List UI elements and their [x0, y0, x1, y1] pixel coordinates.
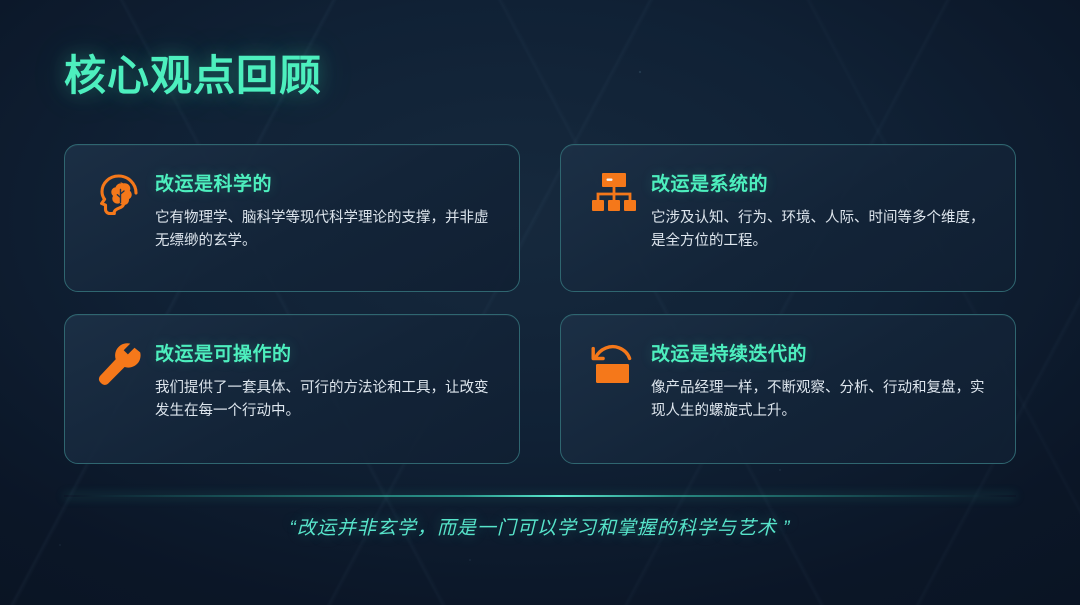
card-science[interactable]: 改运是科学的 它有物理学、脑科学等现代科学理论的支撑，并非虚无缥缈的玄学。 — [64, 144, 520, 292]
iterate-arrow-icon — [583, 339, 645, 397]
card-description: 像产品经理一样，不断观察、分析、行动和复盘，实现人生的螺旋式上升。 — [651, 377, 993, 424]
card-body: 改运是科学的 它有物理学、脑科学等现代科学理论的支撑，并非虚无缥缈的玄学。 — [149, 169, 497, 291]
card-title: 改运是持续迭代的 — [651, 339, 993, 366]
card-description: 我们提供了一套具体、可行的方法论和工具，让改变发生在每一个行动中。 — [155, 377, 497, 424]
card-description: 它有物理学、脑科学等现代科学理论的支撑，并非虚无缥缈的玄学。 — [155, 207, 497, 254]
cards-row-1: 改运是科学的 它有物理学、脑科学等现代科学理论的支撑，并非虚无缥缈的玄学。 — [64, 144, 1016, 292]
card-body: 改运是持续迭代的 像产品经理一样，不断观察、分析、行动和复盘，实现人生的螺旋式上… — [645, 339, 993, 463]
card-system[interactable]: 改运是系统的 它涉及认知、行为、环境、人际、时间等多个维度，是全方位的工程。 — [560, 144, 1016, 292]
footer-quote: “改运并非玄学，而是一门可以学习和掌握的科学与艺术 ” — [0, 513, 1080, 540]
slide-canvas: 核心观点回顾 改运是科学的 它有物理学、脑科学等现代科学理论的支撑，并非虚无缥缈… — [0, 0, 1080, 605]
cards-row-2: 改运是可操作的 我们提供了一套具体、可行的方法论和工具，让改变发生在每一个行动中… — [64, 314, 1016, 464]
wrench-icon — [87, 339, 149, 397]
cards-grid: 改运是科学的 它有物理学、脑科学等现代科学理论的支撑，并非虚无缥缈的玄学。 — [64, 144, 1016, 464]
sitemap-icon — [583, 169, 645, 227]
card-body: 改运是可操作的 我们提供了一套具体、可行的方法论和工具，让改变发生在每一个行动中… — [149, 339, 497, 463]
card-description: 它涉及认知、行为、环境、人际、时间等多个维度，是全方位的工程。 — [651, 207, 993, 254]
card-title: 改运是科学的 — [155, 169, 497, 196]
card-actionable[interactable]: 改运是可操作的 我们提供了一套具体、可行的方法论和工具，让改变发生在每一个行动中… — [64, 314, 520, 464]
card-title: 改运是系统的 — [651, 169, 993, 196]
head-brain-icon — [87, 169, 149, 227]
card-iterative[interactable]: 改运是持续迭代的 像产品经理一样，不断观察、分析、行动和复盘，实现人生的螺旋式上… — [560, 314, 1016, 464]
card-title: 改运是可操作的 — [155, 339, 497, 366]
page-title: 核心观点回顾 — [64, 42, 322, 103]
footer-divider — [64, 495, 1016, 497]
card-body: 改运是系统的 它涉及认知、行为、环境、人际、时间等多个维度，是全方位的工程。 — [645, 169, 993, 291]
